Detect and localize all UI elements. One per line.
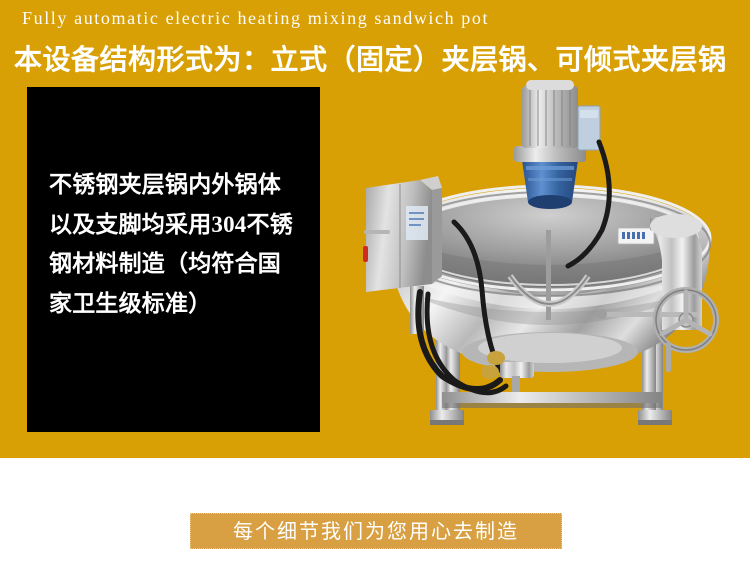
tilt-handwheel xyxy=(656,290,716,372)
page-title-chinese: 本设备结构形式为：立式（固定）夹层锅、可倾式夹层锅 xyxy=(14,38,727,78)
tagline-banner: 每个细节我们为您用心去制造 xyxy=(190,513,562,549)
tagline-banner-text: 每个细节我们为您用心去制造 xyxy=(233,521,519,541)
emergency-stop-button xyxy=(363,246,368,262)
product-detail-page: Fully automatic electric heating mixing … xyxy=(0,0,750,562)
page-title-english: Fully automatic electric heating mixing … xyxy=(22,8,489,29)
hero-band: Fully automatic electric heating mixing … xyxy=(0,0,750,458)
tagline-subtext: 只看边缘做做事 xyxy=(0,555,750,562)
feature-callout-box: 不锈钢夹层锅内外锅体以及支脚均采用304不锈钢材料制造（均符合国家卫生级标准） xyxy=(27,87,320,432)
product-nameplate xyxy=(618,228,654,244)
product-image xyxy=(350,80,750,440)
feature-callout-text: 不锈钢夹层锅内外锅体以及支脚均采用304不锈钢材料制造（均符合国家卫生级标准） xyxy=(49,165,301,323)
footer-section: 每个细节我们为您用心去制造 只看边缘做做事 xyxy=(0,458,750,562)
